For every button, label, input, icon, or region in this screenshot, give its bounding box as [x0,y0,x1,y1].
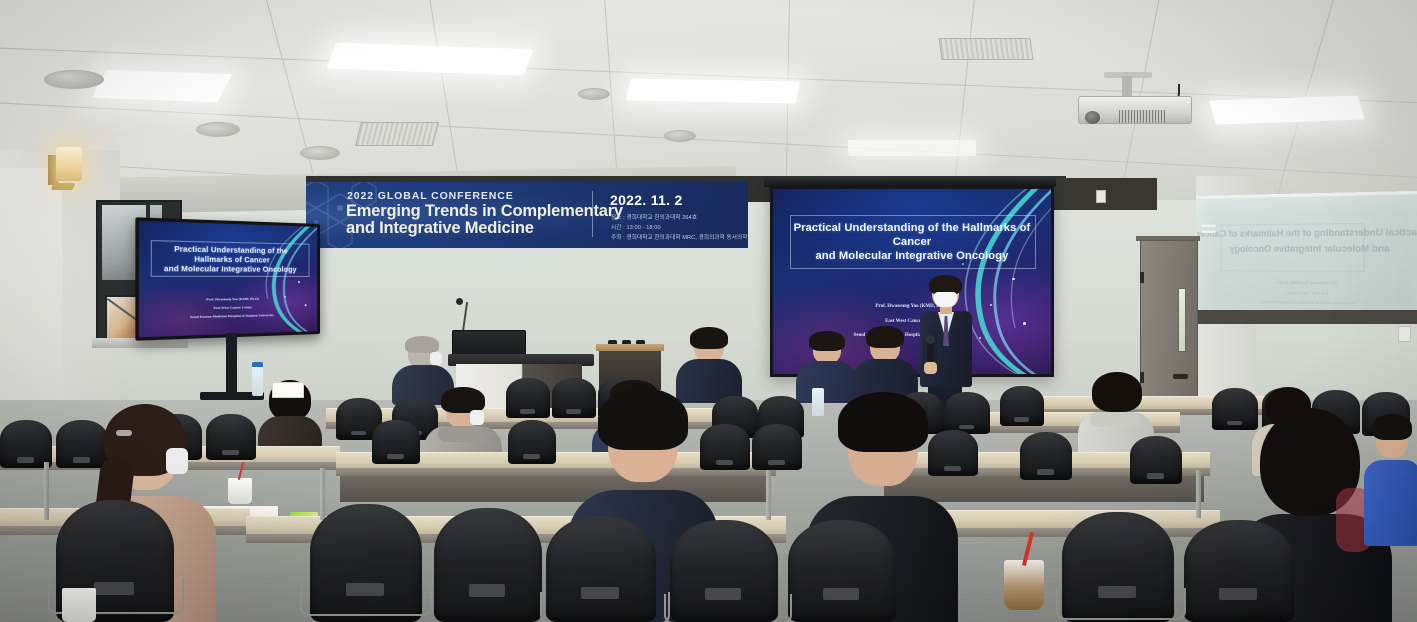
reflection-title-line1: Practical Understanding of the Hallmarks… [1196,225,1417,241]
banner-meta-location: 장소 : 경희대학교 한의과대학 264호 [611,213,697,221]
chair[interactable] [434,508,542,622]
ceiling-vent-icon [44,70,104,89]
ceiling-projector [1078,88,1190,122]
ceiling-air-grille [355,122,439,146]
light-switch[interactable] [1398,326,1411,342]
banner-meta-host: 주최 : 경희대학교 한의과대학 MRC, 경희의과학 동서의학연구소 [611,233,748,241]
wall-sensor-plate [1096,190,1106,203]
iced-coffee-cup[interactable] [1004,560,1044,610]
reflection-credit-1: Prof. Hwaseung Yoo (KMD, Ph.D) [1196,278,1417,288]
chair[interactable] [372,420,420,464]
water-bottle[interactable] [252,366,263,396]
ceiling-speaker-icon [578,88,610,100]
ceiling-light-panel [1209,95,1364,124]
projected-slide-title: Practical Understanding of the Hallmarks… [792,221,1031,263]
slide-title-line2: and Molecular Integrative Oncology [815,250,1008,262]
ceiling-light-panel [626,79,800,104]
chair[interactable] [788,520,896,622]
lecture-hall-photo: 2022 GLOBAL CONFERENCE Emerging Trends i… [0,0,1417,622]
paper-cup[interactable] [228,478,252,504]
chair-armrest [1056,588,1186,620]
door-vision-panel [1178,288,1186,352]
tv-slide-title-line2: and Molecular Integrative Oncology [164,263,297,273]
attendee-center-suit [676,330,742,400]
chair-armrest [540,592,670,622]
reflection-title-line2: and Molecular Integrative Oncology [1196,242,1417,257]
chair[interactable] [1020,432,1072,480]
conference-banner: 2022 GLOBAL CONFERENCE Emerging Trends i… [306,182,748,248]
projector-lens-icon [1085,111,1100,124]
whiteboard-slide-reflection: Practical Understanding of the Hallmarks… [1196,194,1417,325]
hair-tie [116,430,132,436]
whiteboard-lower-trim [1196,310,1417,324]
hood [438,426,488,442]
chair[interactable] [506,378,550,418]
swoosh-graphic-icon [247,221,317,337]
chair[interactable] [1184,520,1294,622]
whiteboard-marker-mark [1202,225,1216,227]
banner-title-line2: and Integrative Medicine [346,220,646,237]
chair[interactable] [508,420,556,464]
wall-mounted-display: Practical Understanding of the Hallmarks… [135,217,320,340]
slide-credit-1: Prof. Hwaseung Yoo (KMD, Ph.D) [773,304,1051,309]
face-mask [430,352,442,365]
chair-armrest [664,594,792,622]
face-mask [166,448,188,474]
tv-slide-title-line1: Practical Understanding of the Hallmarks… [174,244,288,265]
bottle-cap [252,362,263,367]
ceiling-light-panel [847,140,976,156]
face-mask [934,292,957,307]
banner-meta-time: 시간 : 13:00 - 18:00 [611,223,661,231]
ceiling-light-panel [92,70,232,102]
wall-sconce-light [48,147,82,195]
door-handle[interactable] [1173,374,1188,379]
door-hinge [1140,272,1144,283]
desk-leg [1196,470,1201,518]
chair-armrest [300,582,432,616]
presenter [916,278,976,406]
whiteboard-marker-mark [1202,231,1216,233]
chair[interactable] [0,420,52,468]
paper-cup[interactable] [62,588,96,622]
name-tent-card [272,382,304,398]
hood [1090,412,1140,427]
face-mask [470,410,484,425]
glass-whiteboard: Practical Understanding of the Hallmarks… [1196,191,1417,325]
display-stand [226,333,237,395]
chair[interactable] [1130,436,1182,484]
ceiling-vent-icon [196,122,240,137]
tv-slide-title: Practical Understanding of the Hallmarks… [153,243,306,274]
tv-slide: Practical Understanding of the Hallmarks… [139,221,317,337]
reflection-credit-3: Seoul Korean Medicine Hospital of Daejeo… [1196,297,1417,309]
attendee-blue-shirt-far-right [1364,420,1417,540]
ceiling-vent-icon [300,146,340,160]
banner-kicker: 2022 GLOBAL CONFERENCE [347,190,514,202]
banner-title: Emerging Trends in Complementary and Int… [346,203,646,236]
desk-leg [44,462,49,520]
ceiling-air-grille [938,38,1033,60]
banner-date: 2022. 11. 2 [610,192,683,208]
microphone-head-icon [456,298,463,305]
chair[interactable] [1000,386,1044,426]
desk-leg [766,470,771,520]
ceiling-light-panel [326,43,534,76]
banner-divider [592,191,593,237]
ceiling-speaker-icon [664,130,696,142]
slide-credit-2: East West Cancer Center [773,319,1051,324]
attendee-right-suit [796,334,858,400]
slide-title-line1: Practical Understanding of the Hallmarks… [794,222,1031,248]
banner-title-line1: Emerging Trends in Complementary [346,203,646,220]
microphone-head-icon [926,335,935,344]
chair[interactable] [752,424,802,470]
